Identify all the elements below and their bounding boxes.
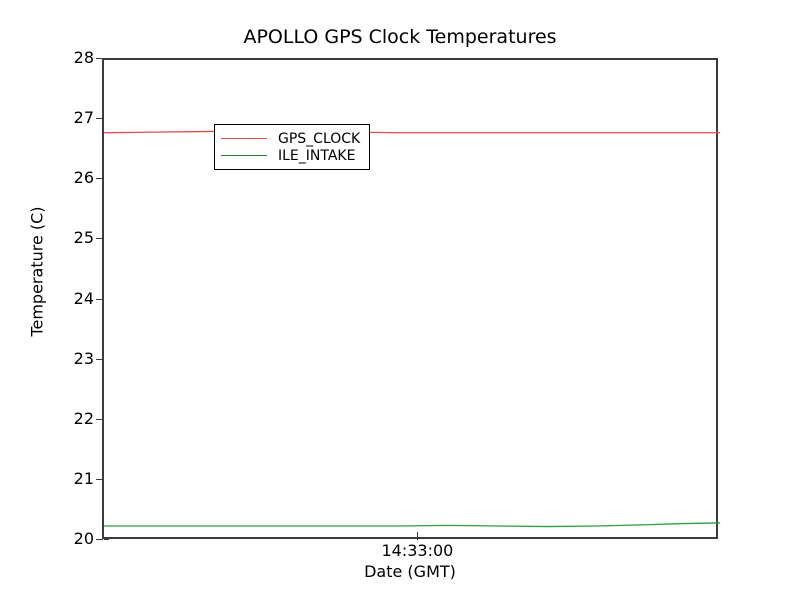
chart-legend[interactable]: GPS_CLOCK ILE_INTAKE <box>214 124 370 170</box>
plot-area: GPS_CLOCK ILE_INTAKE <box>102 58 718 539</box>
y-axis-label: Temperature (C) <box>28 177 47 367</box>
chart-figure: APOLLO GPS Clock Temperatures 2827262524… <box>0 0 800 600</box>
y-axis-tick-label: 20 <box>54 531 94 547</box>
legend-item-ile-intake[interactable]: ILE_INTAKE <box>221 147 360 164</box>
series-line-ile-intake <box>104 523 720 527</box>
y-axis-tick-label: 27 <box>54 110 94 126</box>
x-axis-label: Date (GMT) <box>310 562 510 581</box>
plot-lines <box>104 60 720 541</box>
legend-item-gps-clock[interactable]: GPS_CLOCK <box>221 130 360 147</box>
legend-label-ile-intake: ILE_INTAKE <box>278 149 355 163</box>
y-axis-tick-labels: 282726252423222120 <box>50 0 94 600</box>
series-line-gps-clock <box>104 131 720 133</box>
y-axis-tick <box>96 539 103 540</box>
chart-title: APOLLO GPS Clock Temperatures <box>0 26 800 48</box>
x-axis-tick-mark <box>417 532 418 540</box>
legend-swatch-gps-clock <box>221 138 267 139</box>
y-axis-tick-label: 23 <box>54 351 94 367</box>
legend-swatch-ile-intake <box>221 155 267 156</box>
y-axis-tick-label: 25 <box>54 230 94 246</box>
y-axis-tick-label: 28 <box>54 50 94 66</box>
y-axis-tick-label: 24 <box>54 291 94 307</box>
legend-label-gps-clock: GPS_CLOCK <box>278 132 360 146</box>
y-axis-tick-label: 26 <box>54 170 94 186</box>
y-axis-tick-label: 21 <box>54 471 94 487</box>
y-axis-tick-label: 22 <box>54 411 94 427</box>
x-axis-tick-label: 14:33:00 <box>357 541 477 560</box>
